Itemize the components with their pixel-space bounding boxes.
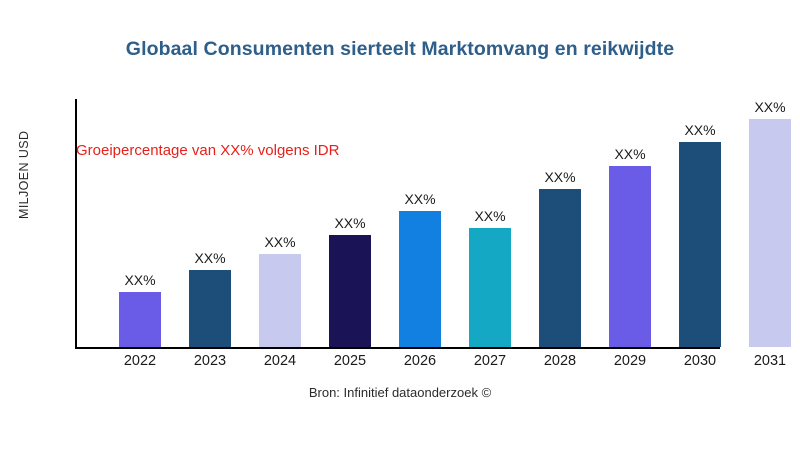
- bar-item[interactable]: XX%: [105, 292, 175, 347]
- bar-value-label: XX%: [245, 234, 315, 250]
- bar-value-label: XX%: [175, 250, 245, 266]
- bar-item[interactable]: XX%: [455, 228, 525, 347]
- page-title: Globaal Consumenten sierteelt Marktomvan…: [0, 38, 800, 61]
- x-tick-label: 2022: [105, 353, 175, 369]
- y-axis-title: MILJOEN USD: [17, 100, 39, 250]
- bar-item[interactable]: XX%: [595, 166, 665, 347]
- bar-item[interactable]: XX%: [315, 235, 385, 347]
- bar-value-label: XX%: [105, 272, 175, 288]
- bar-value-label: XX%: [525, 169, 595, 185]
- x-tick-label: 2025: [315, 353, 385, 369]
- bar-series: XX%XX%XX%XX%XX%XX%XX%XX%XX%XX%: [75, 99, 783, 349]
- x-tick-label: 2027: [455, 353, 525, 369]
- bar-item[interactable]: XX%: [245, 254, 315, 347]
- bar-item[interactable]: XX%: [385, 211, 455, 347]
- bar-rect[interactable]: [329, 235, 371, 347]
- bar-item[interactable]: XX%: [525, 189, 595, 347]
- bar-item[interactable]: XX%: [735, 119, 800, 347]
- bar-rect[interactable]: [679, 142, 721, 347]
- bar-rect[interactable]: [399, 211, 441, 347]
- x-axis-tick-labels: 2022202320242025202620272028202920302031: [75, 353, 783, 377]
- bar-value-label: XX%: [385, 191, 455, 207]
- bar-value-label: XX%: [665, 122, 735, 138]
- bar-rect[interactable]: [189, 270, 231, 347]
- bar-item[interactable]: XX%: [175, 270, 245, 347]
- bar-value-label: XX%: [595, 146, 665, 162]
- bar-value-label: XX%: [455, 208, 525, 224]
- chart-container: Globaal Consumenten sierteelt Marktomvan…: [0, 0, 800, 450]
- x-tick-label: 2031: [735, 353, 800, 369]
- bar-rect[interactable]: [469, 228, 511, 347]
- x-tick-label: 2028: [525, 353, 595, 369]
- x-tick-label: 2026: [385, 353, 455, 369]
- source-note: Bron: Infinitief dataonderzoek ©: [0, 385, 800, 400]
- bar-value-label: XX%: [735, 99, 800, 115]
- bar-rect[interactable]: [119, 292, 161, 347]
- bar-rect[interactable]: [539, 189, 581, 347]
- bar-value-label: XX%: [315, 215, 385, 231]
- bar-rect[interactable]: [259, 254, 301, 347]
- x-tick-label: 2029: [595, 353, 665, 369]
- bar-rect[interactable]: [749, 119, 791, 347]
- bar-item[interactable]: XX%: [665, 142, 735, 347]
- x-tick-label: 2023: [175, 353, 245, 369]
- x-tick-label: 2024: [245, 353, 315, 369]
- plot-area: XX%XX%XX%XX%XX%XX%XX%XX%XX%XX%: [75, 99, 783, 349]
- x-tick-label: 2030: [665, 353, 735, 369]
- growth-annotation: Groeipercentage van XX% volgens IDR: [76, 142, 339, 159]
- bar-rect[interactable]: [609, 166, 651, 347]
